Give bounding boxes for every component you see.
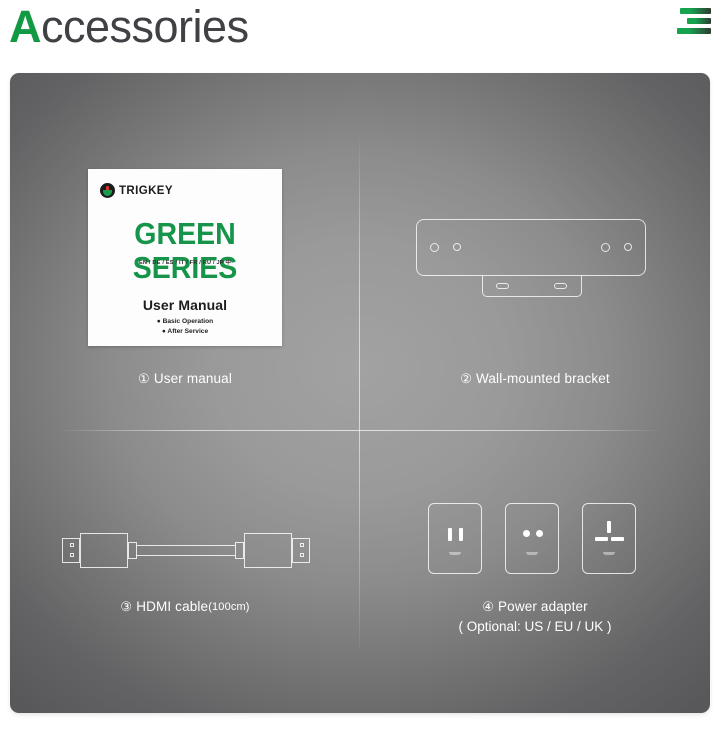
caption-label-1: User manual [154,371,232,386]
wall-mount-bracket [416,219,648,297]
bracket-slot [496,283,509,289]
caption-sub-3: (100cm) [208,601,249,613]
trigkey-logo: TRIGKEY [100,183,173,198]
uk-plug-pin [607,521,611,533]
bracket-hole [601,243,610,252]
caption-wall-bracket: ②Wall-mounted bracket [360,369,710,389]
manual-language-list: EN / DE / ES / IT / FR / RU / JP 中 [88,258,282,266]
trigkey-shield-logo-icon [100,183,115,198]
hdmi-wire [136,545,236,556]
hdmi-connector-tip-left [62,538,80,563]
manual-bullet-list: ● Basic Operation ● After Service [88,317,282,336]
manual-series-title: GREEN SERIES [96,217,274,285]
page-title: Accessories [9,0,249,57]
plug-mouth [526,552,538,555]
caption-user-manual: ①User manual [10,369,360,389]
hdmi-connector-body-right [244,533,292,568]
accessory-item-wall-bracket: ②Wall-mounted bracket [360,73,710,430]
accessory-item-user-manual: TRIGKEY GREEN SERIES EN / DE / ES / IT /… [10,73,360,430]
caption-power-adapter-options: ( Optional: US / EU / UK ) [360,617,710,637]
hdmi-connector-neck-right [235,542,244,559]
menu-bar-top [680,8,711,14]
menu-bar-bottom [677,28,711,34]
page-header: Accessories [0,0,720,60]
trigkey-brand-text: TRIGKEY [119,185,173,197]
menu-bar-middle [687,18,711,24]
manual-bullet-after-service: ● After Service [88,327,282,337]
eu-plug-icon [505,503,559,574]
page-title-rest: ccessories [41,1,249,52]
hdmi-connector-body-left [80,533,128,568]
plug-mouth [449,552,461,555]
hamburger-menu-icon[interactable] [674,7,712,37]
manual-language-codes: EN / DE / ES / IT / FR / RU / JP [139,260,224,266]
hdmi-tip-dot [70,543,74,547]
bracket-slot [554,283,567,289]
bracket-hole [430,243,439,252]
caption-number-3: ③ [120,599,132,614]
caption-power-adapter: ④Power adapter [360,597,710,617]
caption-number-1: ① [138,371,150,386]
caption-label-4: Power adapter [498,599,588,614]
uk-plug-pin [595,537,608,541]
hdmi-tip-dot [70,553,74,557]
page-title-initial: A [9,1,41,52]
manual-heading: User Manual [88,297,282,313]
hdmi-cable [55,531,317,571]
bracket-hole [453,243,461,251]
accessories-panel: TRIGKEY GREEN SERIES EN / DE / ES / IT /… [10,73,710,713]
power-adapters [420,503,645,581]
us-plug-pin [448,528,452,541]
us-plug-icon [428,503,482,574]
hdmi-tip-dot [300,543,304,547]
user-manual-booklet: TRIGKEY GREEN SERIES EN / DE / ES / IT /… [88,169,282,346]
accessory-item-hdmi-cable: ③HDMI cable(100cm) [10,430,360,713]
uk-plug-pin [611,537,624,541]
plug-mouth [603,552,615,555]
eu-plug-pin [523,530,530,537]
bracket-plate [416,219,646,276]
eu-plug-pin [536,530,543,537]
accessory-item-power-adapter: ④Power adapter ( Optional: US / EU / UK … [360,430,710,713]
manual-language-cjk: 中 [225,260,231,266]
uk-plug-icon [582,503,636,574]
caption-label-2: Wall-mounted bracket [476,371,610,386]
hdmi-tip-dot [300,553,304,557]
caption-number-4: ④ [482,599,494,614]
caption-label-3: HDMI cable [136,599,208,614]
bracket-hole [624,243,632,251]
us-plug-pin [459,528,463,541]
hdmi-connector-tip-right [292,538,310,563]
manual-bullet-basic-operation: ● Basic Operation [88,317,282,327]
caption-number-2: ② [460,371,472,386]
caption-hdmi-cable: ③HDMI cable(100cm) [10,597,360,617]
